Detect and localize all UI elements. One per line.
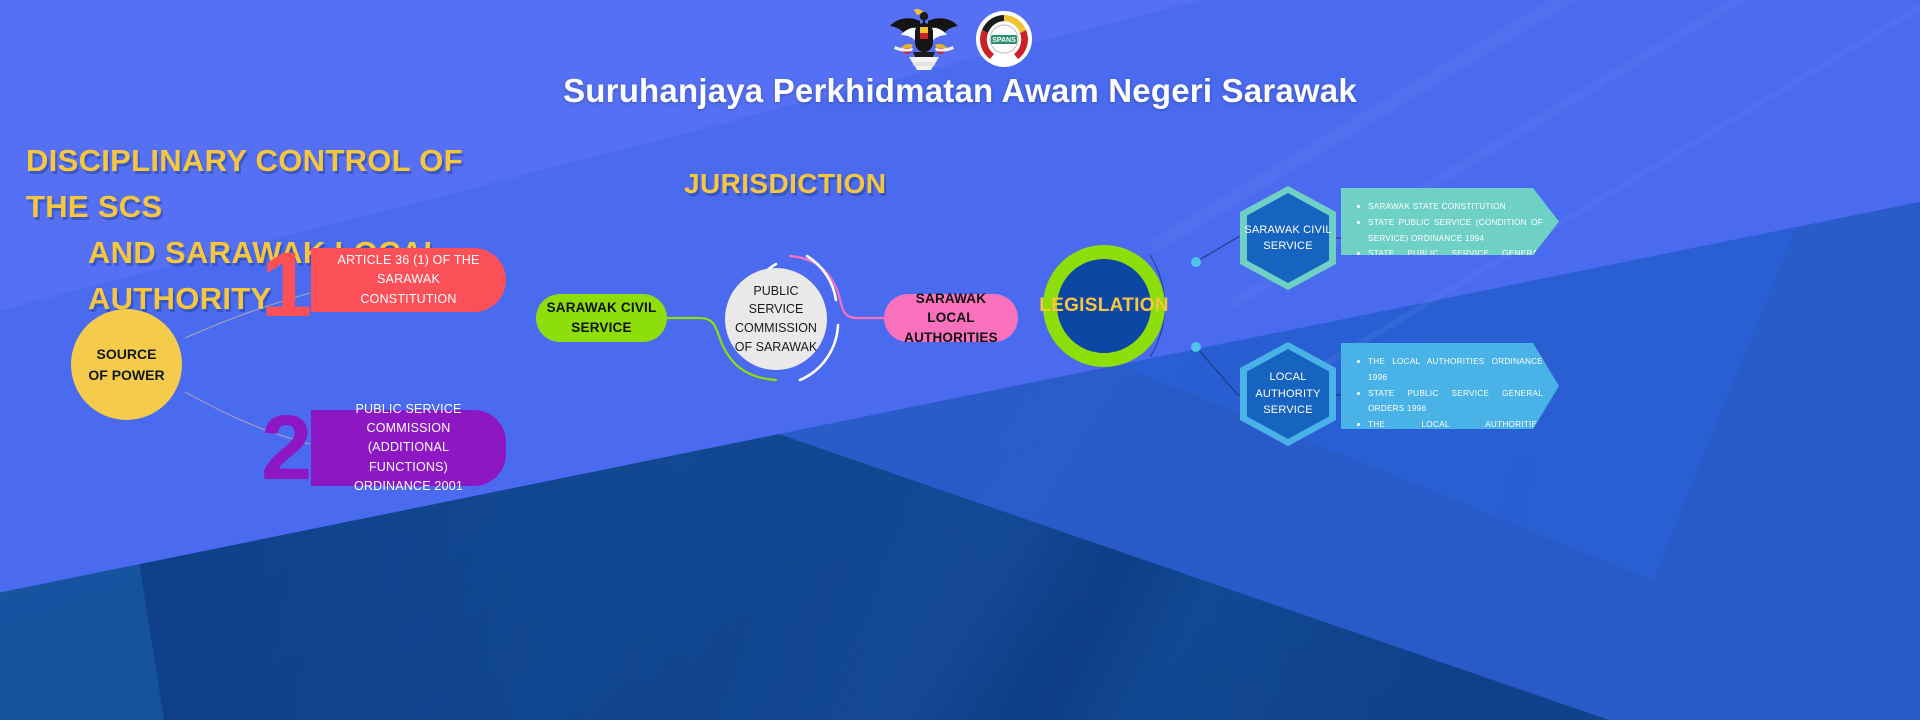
spans-logo-icon: SPANS bbox=[975, 10, 1033, 68]
hexagon-label-scs: SARAWAK CIVIL SERVICE bbox=[1240, 222, 1336, 255]
legislation-list-civil-service: SARAWAK STATE CONSTITUTIONSTATE PUBLIC S… bbox=[1341, 188, 1559, 255]
source-item-1[interactable]: 1 ARTICLE 36 (1) OF THE SARAWAK CONSTITU… bbox=[311, 248, 506, 312]
sarawak-coat-of-arms-icon bbox=[887, 6, 961, 72]
source-of-power-line-1: SOURCE bbox=[97, 344, 157, 364]
jurisdiction-title: JURISDICTION bbox=[684, 168, 874, 200]
source-of-power-line-2: OF POWER bbox=[88, 365, 164, 385]
legislation-list-item: SARAWAK STATE CONSTITUTION bbox=[1355, 199, 1543, 215]
background-streak-3 bbox=[1310, 0, 1920, 375]
source-item-2-number: 2 bbox=[261, 413, 312, 485]
source-item-2-label: PUBLIC SERVICE COMMISSION (ADDITIONAL FU… bbox=[311, 410, 506, 486]
legislation-list-civil-service-items: SARAWAK STATE CONSTITUTIONSTATE PUBLIC S… bbox=[1355, 199, 1543, 309]
connector-dot-top bbox=[1191, 257, 1201, 267]
legislation-list-item: STATE PUBLIC SERVICE GENERAL ORDERS 1996 bbox=[1355, 246, 1543, 278]
jurisdiction-node-sarawak-civil-service[interactable]: SARAWAK CIVIL SERVICE bbox=[536, 294, 667, 342]
legislation-list-item: STATE PUBLIC SERVICE (CONDITION OF SERVI… bbox=[1355, 215, 1543, 247]
page-title: Suruhanjaya Perkhidmatan Awam Negeri Sar… bbox=[0, 72, 1920, 110]
legislation-list-item: PUBLIC SERVICE COMMISSION RULES 1996 bbox=[1355, 278, 1543, 310]
hexagon-sarawak-civil-service[interactable]: SARAWAK CIVIL SERVICE bbox=[1240, 186, 1336, 290]
legislation-label: LEGISLATION bbox=[1039, 295, 1169, 317]
connector-dot-bottom bbox=[1191, 342, 1201, 352]
infographic-canvas: SPANS Suruhanjaya Perkhidmatan Awam Nege… bbox=[0, 0, 1920, 720]
legislation-list-item: THE LOCAL AUTHORITY SERVICE REGULATIONS … bbox=[1355, 480, 1543, 512]
headline-line-1: DISCIPLINARY CONTROL OF THE SCS bbox=[26, 138, 526, 230]
source-item-2[interactable]: 2 PUBLIC SERVICE COMMISSION (ADDITIONAL … bbox=[311, 410, 506, 486]
jurisdiction-center-label: PUBLIC SERVICE COMMISSION OF SARAWAK bbox=[725, 268, 827, 370]
legislation-node[interactable]: LEGISLATION bbox=[1043, 245, 1165, 367]
spans-logo-text: SPANS bbox=[992, 37, 1016, 44]
legislation-list-item: THE LOCAL AUTHORITIES ORDINANCE 1996 bbox=[1355, 354, 1543, 386]
source-item-1-number: 1 bbox=[261, 250, 312, 322]
source-item-1-label: ARTICLE 36 (1) OF THE SARAWAK CONSTITUTI… bbox=[311, 248, 506, 312]
jurisdiction-center-node[interactable]: PUBLIC SERVICE COMMISSION OF SARAWAK bbox=[713, 256, 839, 382]
legislation-list-local-authority: THE LOCAL AUTHORITIES ORDINANCE 1996STAT… bbox=[1341, 343, 1559, 429]
hexagon-local-authority-service[interactable]: LOCAL AUTHORITY SERVICE bbox=[1240, 342, 1336, 446]
legislation-list-local-authority-items: THE LOCAL AUTHORITIES ORDINANCE 1996STAT… bbox=[1355, 354, 1543, 512]
header-logos: SPANS bbox=[887, 6, 1033, 72]
legislation-list-item: STATE PUBLIC SERVICE GENERAL ORDERS 1996 bbox=[1355, 386, 1543, 418]
jurisdiction-node-sarawak-local-authorities[interactable]: SARAWAK LOCAL AUTHORITIES bbox=[884, 294, 1018, 342]
legislation-list-item: THE LOCAL AUTHORITIES (MODIFICATIONS OF … bbox=[1355, 417, 1543, 480]
hexagon-label-las: LOCAL AUTHORITY SERVICE bbox=[1240, 369, 1336, 419]
source-of-power-node[interactable]: SOURCE OF POWER bbox=[71, 309, 182, 420]
